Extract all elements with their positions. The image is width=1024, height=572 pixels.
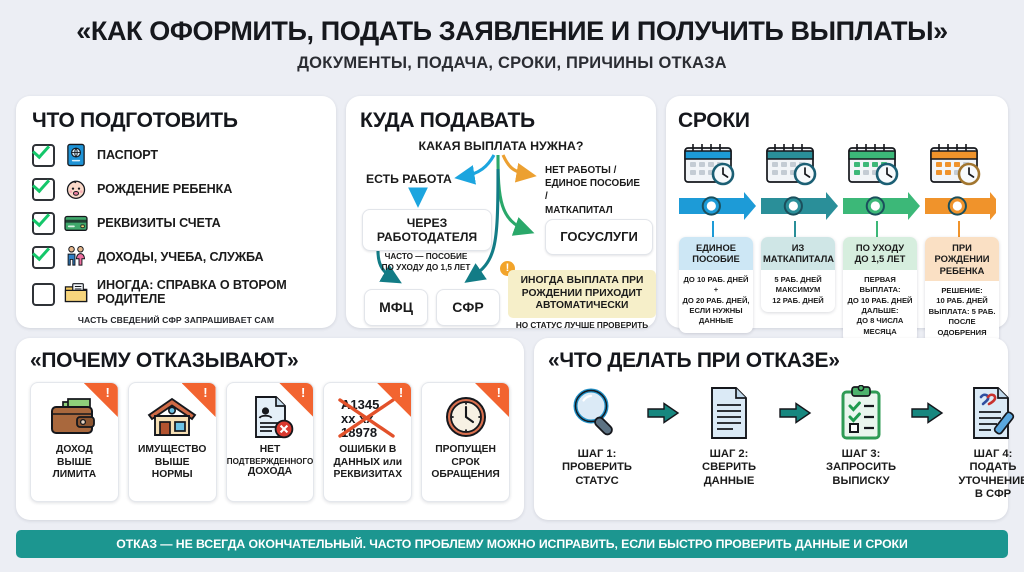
deadline-heading: ЕДИНОЕПОСОБИЕ [679, 237, 753, 270]
list-item[interactable]: ПАСПОРТ [32, 142, 320, 168]
card-what-to-prepare: ЧТО ПОДГОТОВИТЬ ПАСПОРТ [16, 96, 336, 328]
card-title-why: «ПОЧЕМУ ОТКАЗЫВАЮТ» [30, 349, 510, 373]
card-title-actions: «ЧТО ДЕЛАТЬ ПРИ ОТКАЗЕ» [548, 349, 994, 373]
list-item-label: ИНОГДА: СПРАВКА О ВТОРОМ РОДИТЕЛЕ [97, 278, 320, 307]
crossed-data-icon: A1345 xx xx 18978 [333, 393, 403, 441]
deadline-body: 5 РАБ. ДНЕЙМАКСИМУМ12 РАБ. ДНЕЙ [761, 270, 835, 312]
checkbox-income[interactable] [32, 246, 55, 269]
deadline-heading: ПРИ РОЖДЕНИИРЕБЕНКА [925, 237, 999, 281]
list-item-label: ШАГ 4:ПОДАТЬУТОЧНЕНИЕВ СФР [944, 448, 1024, 502]
step-arrow-icon [778, 383, 812, 443]
branch-label-has-work: ЕСТЬ РАБОТА [366, 172, 452, 186]
checkbox-passport[interactable] [32, 144, 55, 167]
list-item-label: ШАГ 1:ПРОВЕРИТЬСТАТУС [548, 448, 646, 488]
list-item-label: РЕКВИЗИТЫ СЧЕТА [97, 216, 221, 230]
list-item[interactable]: ШАГ 1:ПРОВЕРИТЬСТАТУС [548, 383, 646, 488]
card-title-terms: СРОКИ [678, 109, 996, 133]
list-item[interactable]: ! ПРОПУЩЕНСРОКОБРАЩЕНИЯ [421, 382, 510, 502]
checkbox-account[interactable] [32, 212, 55, 235]
calendar-clock-icon [927, 141, 985, 187]
list-item-label: ДОХОДВЫШЕЛИМИТА [51, 444, 99, 482]
deadline-card[interactable]: ИЗМАТКАПИТАЛА5 РАБ. ДНЕЙМАКСИМУМ12 РАБ. … [761, 237, 835, 312]
passport-icon [63, 142, 89, 168]
step-arrow-icon [646, 383, 680, 443]
deadline-heading: ПО УХОДУДО 1,5 ЛЕТ [843, 237, 917, 270]
timeline-arrows-icon [678, 191, 996, 221]
actions-steps: ШАГ 1:ПРОВЕРИТЬСТАТУС ШАГ 2:СВЕРИТЬДАННЫ… [548, 383, 994, 502]
list-item[interactable]: ! ДОХОДВЫШЕЛИМИТА [30, 382, 119, 502]
card-what-to-do: «ЧТО ДЕЛАТЬ ПРИ ОТКАЗЕ» ШАГ 1:ПРОВЕРИТЬС… [534, 338, 1008, 520]
list-item-label: ДОХОДЫ, УЧЕБА, СЛУЖБА [97, 250, 263, 264]
timeline-stem [712, 221, 714, 237]
prepare-note: ЧАСТЬ СВЕДЕНИЙ СФР ЗАПРАШИВАЕТ САМ [32, 315, 320, 325]
header: «КАК ОФОРМИТЬ, ПОДАТЬ ЗАЯВЛЕНИЕ И ПОЛУЧИ… [0, 0, 1024, 73]
list-item[interactable]: ШАГ 3:ЗАПРОСИТЬВЫПИСКУ [812, 383, 910, 488]
document-pen-icon [944, 383, 1024, 443]
pill-mfc[interactable]: МФЦ [364, 289, 428, 326]
page-subtitle: ДОКУМЕНТЫ, ПОДАЧА, СРОКИ, ПРИЧИНЫ ОТКАЗА [0, 54, 1024, 73]
step-arrow-icon [910, 383, 944, 443]
timeline-stem [794, 221, 796, 237]
deadline-body: РЕШЕНИЕ:10 РАБ. ДНЕЙВЫПЛАТА: 5 РАБ.ПОСЛЕ… [925, 281, 999, 344]
wallet-icon [47, 393, 101, 441]
footer-text: ОТКАЗ — НЕ ВСЕГДА ОКОНЧАТЕЛЬНЫЙ. ЧАСТО П… [116, 537, 907, 551]
page-title: «КАК ОФОРМИТЬ, ПОДАТЬ ЗАЯВЛЕНИЕ И ПОЛУЧИ… [0, 16, 1024, 47]
list-item[interactable]: РЕКВИЗИТЫ СЧЕТА [32, 210, 320, 236]
list-item[interactable]: ДОХОДЫ, УЧЕБА, СЛУЖБА [32, 244, 320, 270]
timeline-stem [958, 221, 960, 237]
deadline-heading: ИЗМАТКАПИТАЛА [761, 237, 835, 270]
folder-document-icon [63, 280, 89, 306]
list-item[interactable]: ! A1345 xx xx 18978 ОШИБКИ ВДАННЫХ илиРЕ… [323, 382, 412, 502]
calendar-clock-icon [681, 141, 739, 187]
pill-employer[interactable]: ЧЕРЕЗРАБОТОДАТЕЛЯ [362, 209, 492, 251]
deadline-card[interactable]: ПРИ РОЖДЕНИИРЕБЕНКАРЕШЕНИЕ:10 РАБ. ДНЕЙВ… [925, 237, 999, 344]
why-refused-list: ! ДОХОДВЫШЕЛИМИТА ! [30, 382, 510, 502]
card-title-where: КУДА ПОДАВАТЬ [360, 109, 642, 133]
checkbox-birth[interactable] [32, 178, 55, 201]
list-item-label: РОЖДЕНИЕ РЕБЕНКА [97, 182, 232, 196]
prepare-checklist: ПАСПОРТ РОЖДЕНИЕ РЕБЕНКА [32, 142, 320, 307]
deadline-card[interactable]: ЕДИНОЕПОСОБИЕДО 10 РАБ. ДНЕЙ +ДО 20 РАБ.… [679, 237, 753, 333]
list-item-label: ИМУЩЕСТВОВЫШЕНОРМЫ [136, 444, 208, 482]
document-reject-icon [243, 393, 297, 441]
clipboard-check-icon [812, 383, 910, 443]
baby-icon [63, 176, 89, 202]
card-title-prepare: ЧТО ПОДГОТОВИТЬ [32, 109, 320, 133]
timeline-stem [876, 221, 878, 237]
deadline-card[interactable]: ПО УХОДУДО 1,5 ЛЕТПЕРВАЯ ВЫПЛАТА:ДО 10 Р… [843, 237, 917, 343]
list-item[interactable]: ШАГ 2:СВЕРИТЬДАННЫЕ [680, 383, 778, 488]
bank-card-icon [63, 210, 89, 236]
infographic-page: «КАК ОФОРМИТЬ, ПОДАТЬ ЗАЯВЛЕНИЕ И ПОЛУЧИ… [0, 0, 1024, 572]
list-item-label: ПАСПОРТ [97, 148, 158, 162]
clock-icon [442, 393, 490, 441]
deadlines-timeline: ЕДИНОЕПОСОБИЕДО 10 РАБ. ДНЕЙ +ДО 20 РАБ.… [678, 137, 996, 329]
card-where-to-submit: КУДА ПОДАВАТЬ КАКАЯ ВЫПЛАТА НУЖНА? [346, 96, 656, 328]
list-item-label: ОШИБКИ ВДАННЫХ илиРЕКВИЗИТАХ [331, 444, 404, 482]
list-item[interactable]: ! ИМУЩЕСТВОВЫШЕНОРМЫ [128, 382, 217, 502]
pill-gosuslugi[interactable]: ГОСУСЛУГИ [545, 219, 653, 255]
family-icon [63, 244, 89, 270]
list-item-label: ШАГ 2:СВЕРИТЬДАННЫЕ [680, 448, 778, 488]
deadline-body: ДО 10 РАБ. ДНЕЙ +ДО 20 РАБ. ДНЕЙ,ЕСЛИ НУ… [679, 270, 753, 333]
list-item[interactable]: ШАГ 4:ПОДАТЬУТОЧНЕНИЕВ СФР [944, 383, 1024, 502]
calendar-clock-icon [763, 141, 821, 187]
employer-caption: ЧАСТО — ПОСОБИЕПО УХОДУ ДО 1,5 ЛЕТ [362, 252, 490, 273]
document-icon [680, 383, 778, 443]
house-icon [145, 393, 199, 441]
magnifier-icon [548, 383, 646, 443]
list-item[interactable]: РОЖДЕНИЕ РЕБЕНКА [32, 176, 320, 202]
branch-label-no-work: НЕТ РАБОТЫ /ЕДИНОЕ ПОСОБИЕ /МАТКАПИТАЛ [545, 164, 642, 217]
card-deadlines: СРОКИ ЕДИНОЕПОСОБИЕДО 10 РАБ. ДНЕЙ +ДО 2… [666, 96, 1008, 328]
list-item[interactable]: ИНОГДА: СПРАВКА О ВТОРОМ РОДИТЕЛЕ [32, 278, 320, 307]
pill-sfr[interactable]: СФР [436, 289, 500, 326]
calendar-clock-icon [845, 141, 903, 187]
list-item-label: НЕТ ПОДТВЕРЖДЕННОГО ДОХОДА [226, 444, 315, 479]
card-why-refused: «ПОЧЕМУ ОТКАЗЫВАЮТ» ! ДОХОДВЫШЕЛИМИТА [16, 338, 524, 520]
footer-banner: ОТКАЗ — НЕ ВСЕГДА ОКОНЧАТЕЛЬНЫЙ. ЧАСТО П… [16, 530, 1008, 558]
checkbox-second-parent[interactable] [32, 283, 55, 306]
warning-caption: НО СТАТУС ЛУЧШЕ ПРОВЕРИТЬ [508, 321, 656, 330]
list-item-label: ШАГ 3:ЗАПРОСИТЬВЫПИСКУ [812, 448, 910, 488]
list-item[interactable]: ! НЕТ ПОДТВЕРЖДЕННОГО ДОХОДА [226, 382, 315, 502]
warning-box: ИНОГДА ВЫПЛАТА ПРИ РОЖДЕНИИ ПРИХОДИТ АВТ… [508, 270, 656, 318]
list-item-label: ПРОПУЩЕНСРОКОБРАЩЕНИЯ [429, 444, 501, 482]
deadline-body: ПЕРВАЯ ВЫПЛАТА:ДО 10 РАБ. ДНЕЙДАЛЬШЕ:ДО … [843, 270, 917, 344]
